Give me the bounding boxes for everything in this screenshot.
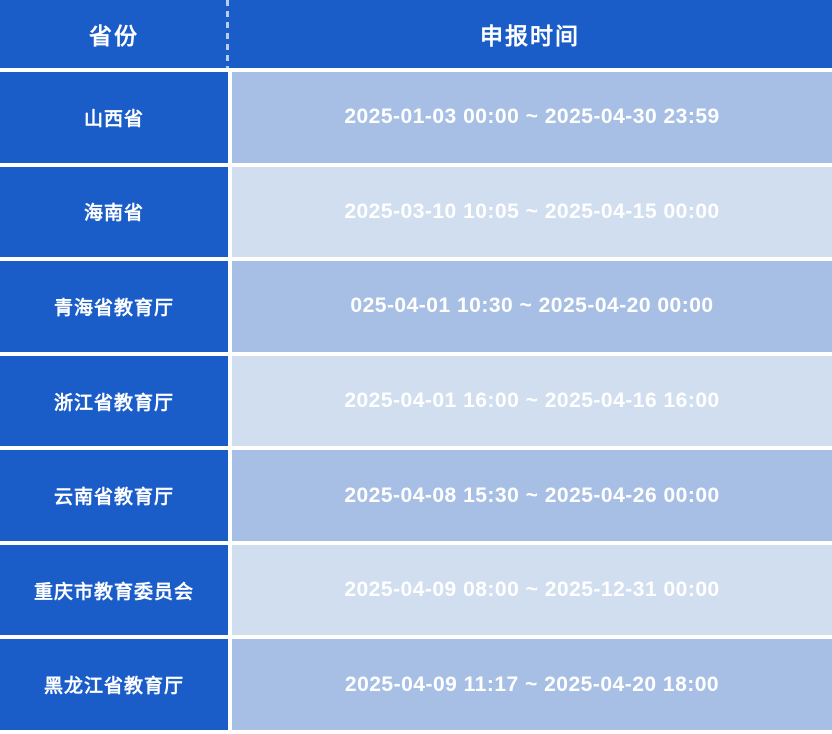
cell-declaration-time: 2025-04-09 08:00 ~ 2025-12-31 00:00: [232, 545, 832, 636]
cell-declaration-time: 2025-04-08 15:30 ~ 2025-04-26 00:00: [232, 450, 832, 541]
table-row: 黑龙江省教育厅 2025-04-09 11:17 ~ 2025-04-20 18…: [0, 639, 832, 730]
cell-province: 海南省: [0, 167, 228, 258]
column-header-declaration-time: 申报时间: [228, 0, 832, 68]
table-row: 青海省教育厅 025-04-01 10:30 ~ 2025-04-20 00:0…: [0, 261, 832, 352]
cell-declaration-time: 2025-03-10 10:05 ~ 2025-04-15 00:00: [232, 167, 832, 258]
table-row: 云南省教育厅 2025-04-08 15:30 ~ 2025-04-26 00:…: [0, 450, 832, 541]
header-column-divider: [226, 0, 229, 68]
cell-province: 山西省: [0, 72, 228, 163]
cell-declaration-time: 2025-04-01 16:00 ~ 2025-04-16 16:00: [232, 356, 832, 447]
column-header-province: 省份: [0, 0, 228, 68]
table-row: 重庆市教育委员会 2025-04-09 08:00 ~ 2025-12-31 0…: [0, 545, 832, 636]
table-body: 山西省 2025-01-03 00:00 ~ 2025-04-30 23:59 …: [0, 68, 832, 730]
table-row: 海南省 2025-03-10 10:05 ~ 2025-04-15 00:00: [0, 167, 832, 258]
table-row: 浙江省教育厅 2025-04-01 16:00 ~ 2025-04-16 16:…: [0, 356, 832, 447]
cell-province: 浙江省教育厅: [0, 356, 228, 447]
cell-province: 黑龙江省教育厅: [0, 639, 228, 730]
declaration-schedule-table: 省份 申报时间 山西省 2025-01-03 00:00 ~ 2025-04-3…: [0, 0, 832, 734]
table-row: 山西省 2025-01-03 00:00 ~ 2025-04-30 23:59: [0, 72, 832, 163]
cell-declaration-time: 2025-01-03 00:00 ~ 2025-04-30 23:59: [232, 72, 832, 163]
cell-province: 云南省教育厅: [0, 450, 228, 541]
table-bottom-spacer: [0, 730, 832, 734]
cell-province: 重庆市教育委员会: [0, 545, 228, 636]
cell-province: 青海省教育厅: [0, 261, 228, 352]
cell-declaration-time: 025-04-01 10:30 ~ 2025-04-20 00:00: [232, 261, 832, 352]
cell-declaration-time: 2025-04-09 11:17 ~ 2025-04-20 18:00: [232, 639, 832, 730]
table-header-row: 省份 申报时间: [0, 0, 832, 68]
